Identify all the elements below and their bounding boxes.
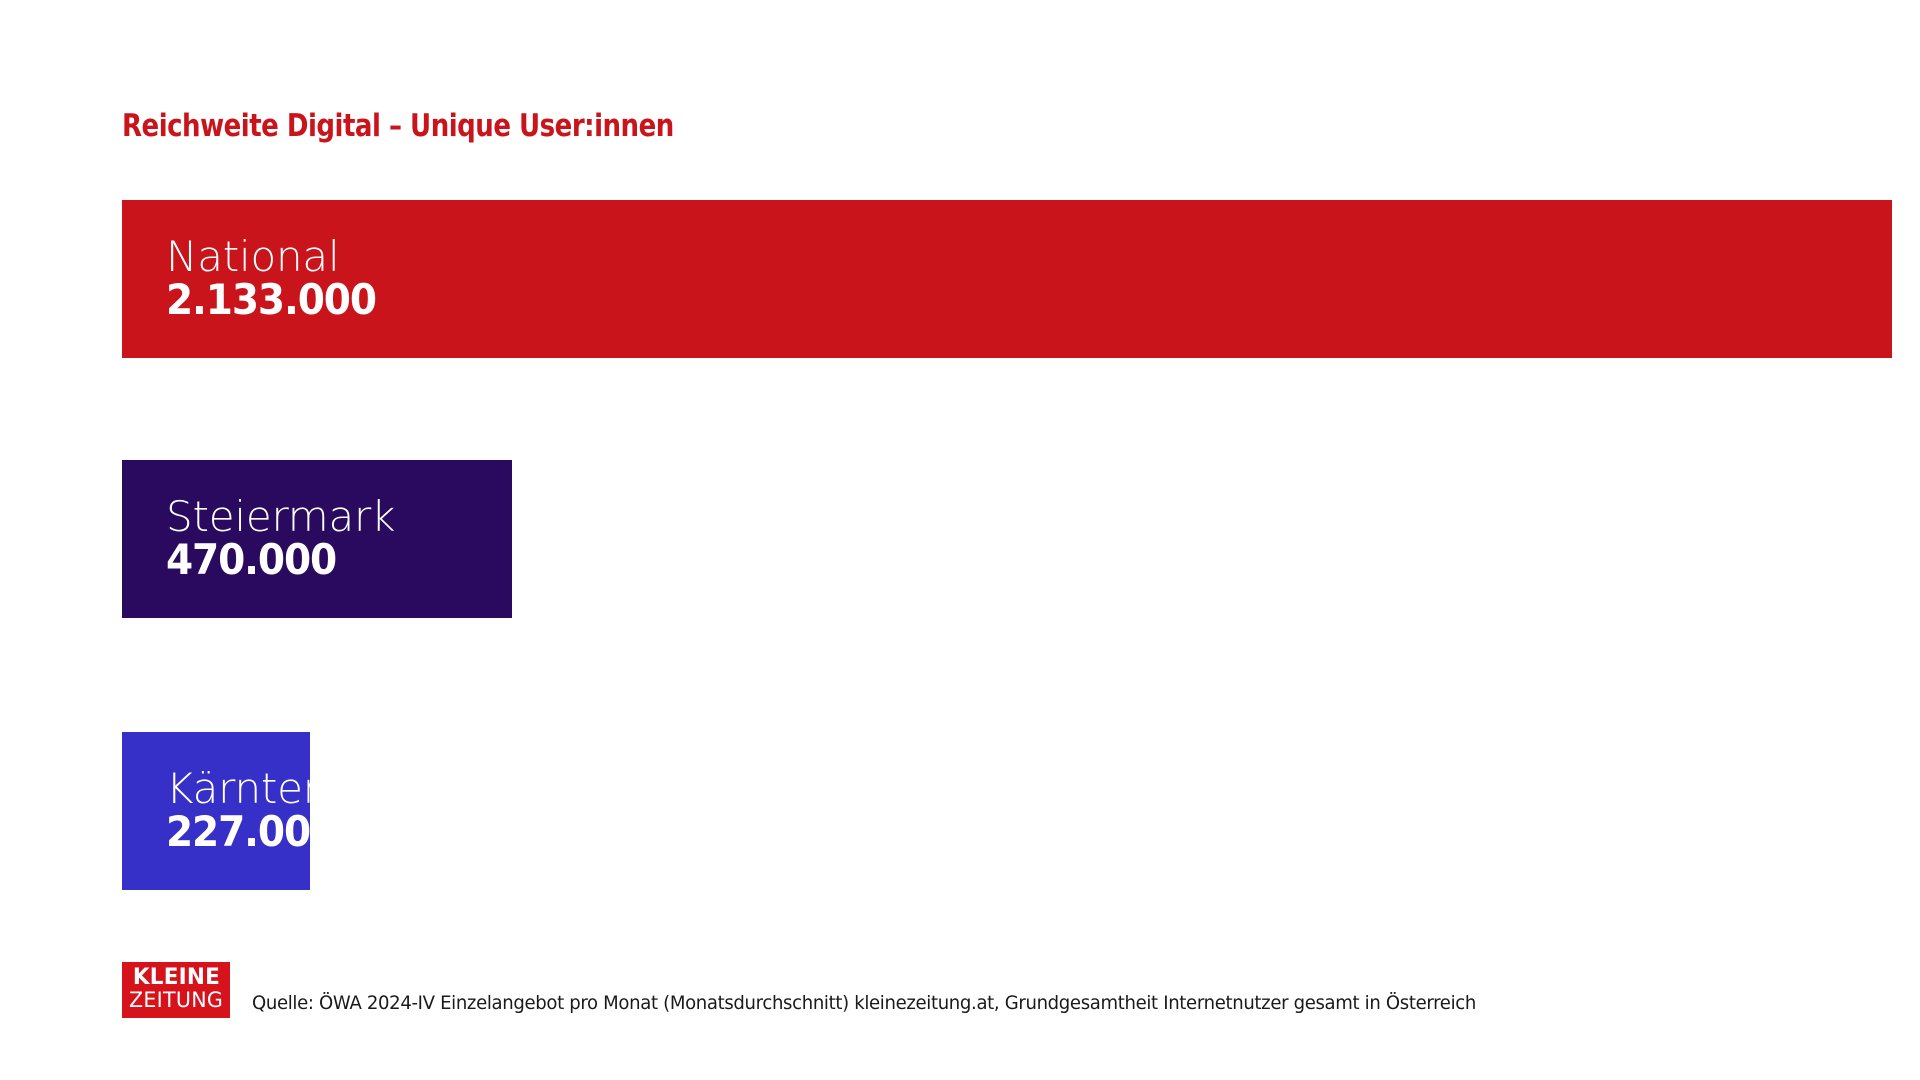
- bar-kaernten: Kärnten 227.000: [122, 732, 310, 890]
- source-note: Quelle: ÖWA 2024-IV Einzelangebot pro Mo…: [252, 992, 1476, 1014]
- infographic-slide: Reichweite Digital – Unique User:innen N…: [0, 0, 1920, 1080]
- logo-line-zeitung: ZEITUNG: [129, 989, 223, 1013]
- kleine-zeitung-logo: KLEINE ZEITUNG: [122, 962, 230, 1018]
- bar-label-steiermark: Steiermark: [166, 495, 512, 538]
- bar-label-national: National: [166, 235, 1892, 278]
- bar-value-steiermark: 470.000: [166, 538, 488, 583]
- bar-value-kaernten: 227.000: [166, 810, 300, 855]
- page-title: Reichweite Digital – Unique User:innen: [122, 108, 674, 144]
- bar-label-kaernten: Kärnten: [166, 767, 310, 810]
- logo-line-kleine: KLEINE: [132, 967, 219, 989]
- bar-steiermark: Steiermark 470.000: [122, 460, 512, 618]
- footer: KLEINE ZEITUNG Quelle: ÖWA 2024-IV Einze…: [122, 962, 1540, 1018]
- bar-value-national: 2.133.000: [166, 278, 1771, 323]
- bar-national: National 2.133.000: [122, 200, 1892, 358]
